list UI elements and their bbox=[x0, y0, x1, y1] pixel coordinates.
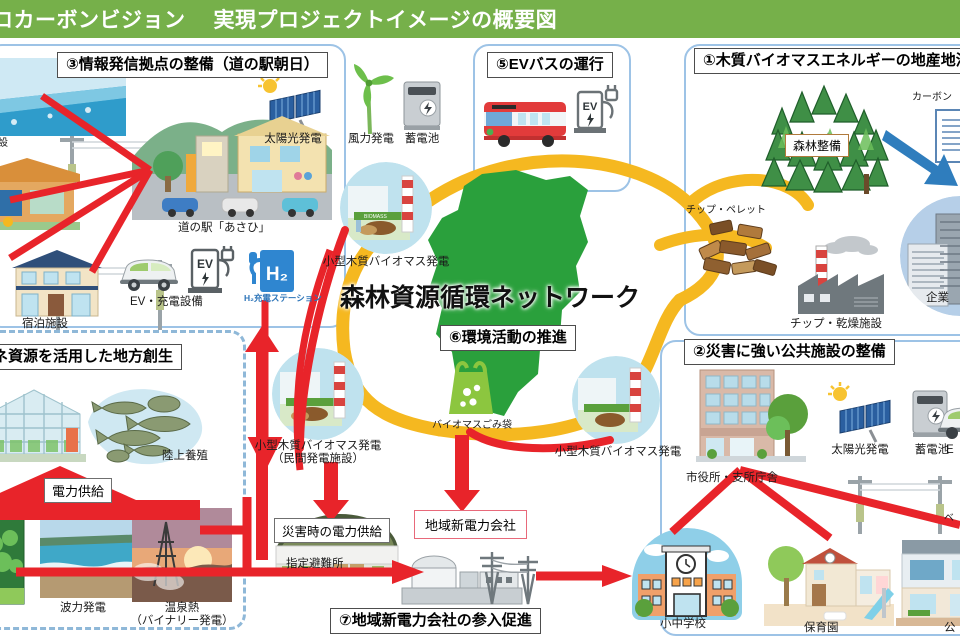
label-carbon-offset: カーボン bbox=[912, 92, 952, 104]
wood-chips-icon bbox=[694, 218, 786, 280]
label-chips-pellets: チップ・ペレット bbox=[686, 205, 766, 217]
forest-small-icon bbox=[0, 514, 24, 604]
lodging-building-icon bbox=[8, 248, 106, 320]
label-biomass-left-main: 小型木質バイオマス発電 bbox=[255, 440, 382, 452]
hydrogen-pump-icon: H₂ bbox=[246, 244, 306, 298]
label-biomass-left: 小型木質バイオマス発電 （民間発電施設） bbox=[246, 440, 390, 466]
city-building-icon bbox=[692, 366, 810, 470]
blue-arrow-icon bbox=[884, 120, 960, 200]
label-chip-drying: チップ・乾燥施設 bbox=[790, 318, 882, 331]
label-wind-top: 風力発電 bbox=[340, 133, 402, 146]
biomass-plant-circle-top: BIOMASS bbox=[340, 162, 432, 254]
svg-text:EV: EV bbox=[197, 257, 213, 271]
label-city-hall: 市役所・支所庁舎 bbox=[686, 472, 778, 485]
label-lodging: 宿泊施設 bbox=[22, 318, 68, 331]
hotspring-photo-icon bbox=[132, 508, 232, 602]
wind-turbine-icon bbox=[344, 64, 396, 136]
school-building-icon bbox=[632, 528, 742, 620]
label-hotspring-sub: （バイナリー発電） bbox=[130, 615, 233, 627]
solar-panel-icon-right bbox=[826, 382, 896, 444]
label-ev-right: E bbox=[946, 444, 954, 457]
transmission-tower-icon-3 bbox=[846, 470, 960, 540]
greenhouse-icon bbox=[0, 384, 86, 462]
label-land-aquaculture: 陸上養殖 bbox=[162, 450, 208, 463]
ev-bus-icon bbox=[482, 96, 572, 150]
ev-charger-icon: EV bbox=[186, 246, 242, 296]
page-header: ロカーボンビジョン 実現プロジェクトイメージの概要図 bbox=[0, 0, 960, 38]
section-title-4: ネ資源を活用した地方創生 bbox=[0, 344, 182, 370]
factory-icon bbox=[792, 230, 902, 322]
section-title-1: ①木質バイオマスエネルギーの地産地消 bbox=[694, 48, 960, 74]
label-public-facility: 公 bbox=[944, 622, 956, 635]
infographic-page: ロカーボンビジョン 実現プロジェクトイメージの概要図 bbox=[0, 0, 960, 640]
label-pole-cut: ベ bbox=[944, 513, 954, 525]
label-solar-top: 太陽光発電 bbox=[258, 133, 328, 146]
section-title-3: ③情報発信拠点の整備（道の駅朝日） bbox=[57, 52, 328, 78]
label-battery-top: 蓄電池 bbox=[396, 133, 448, 146]
label-hotspring-main: 温泉熱 bbox=[165, 602, 200, 614]
label-biomass-bag: バイオマスごみ袋 bbox=[408, 420, 536, 432]
label-roadside-station: 道の駅「あさひ」 bbox=[178, 222, 270, 235]
power-supply-box: 電力供給 bbox=[44, 478, 112, 503]
new-power-company-box: 地域新電力会社 bbox=[414, 510, 527, 539]
label-solar-right: 太陽光発電 bbox=[824, 444, 896, 457]
svg-text:BIOMASS: BIOMASS bbox=[364, 214, 387, 220]
biomass-plant-circle-left bbox=[272, 348, 364, 440]
label-biomass-top: 小型木質バイオマス発電 bbox=[316, 256, 456, 269]
ev-car-icon-right bbox=[936, 400, 960, 440]
section-title-5: ⑤EVバスの運行 bbox=[487, 52, 613, 78]
label-company: 企業 bbox=[926, 292, 949, 305]
label-h2-station: H₂充電ステーション bbox=[244, 294, 314, 304]
label-biomass-right: 小型木質バイオマス発電 bbox=[548, 446, 688, 459]
label-nursery: 保育園 bbox=[804, 622, 839, 635]
public-facility-icon bbox=[896, 534, 960, 626]
battery-icon bbox=[398, 76, 446, 134]
section-title-2: ②災害に強い公共施設の整備 bbox=[684, 339, 895, 365]
header-title-part1: ロカーボンビジョン bbox=[0, 4, 186, 34]
disaster-power-supply-box: 災害時の電力供給 bbox=[274, 518, 390, 543]
label-wave-power: 波力発電 bbox=[60, 602, 106, 615]
label-hotspring: 温泉熱 （バイナリー発電） bbox=[118, 602, 246, 628]
nursery-building-icon bbox=[764, 540, 894, 626]
onsen-building-icon bbox=[0, 152, 82, 230]
forest-maintenance-box: 森林整備 bbox=[785, 134, 849, 157]
ev-charger-icon-bus: EV bbox=[572, 84, 624, 142]
section-title-7: ⑦地域新電力会社の参入促進 bbox=[330, 608, 541, 634]
header-title-part2: 実現プロジェクトイメージの概要図 bbox=[214, 4, 558, 34]
label-ev-charge: EV・充電設備 bbox=[130, 296, 203, 309]
svg-text:EV: EV bbox=[583, 101, 598, 113]
label-school: 小中学校 bbox=[660, 618, 706, 631]
biomass-plant-circle-right bbox=[572, 356, 660, 444]
svg-text:H₂: H₂ bbox=[266, 264, 288, 285]
ev-car-icon bbox=[118, 252, 180, 292]
roadside-station-icon bbox=[132, 110, 332, 220]
label-pool-facility: 施設 bbox=[0, 138, 8, 150]
biomass-bag-icon bbox=[443, 358, 499, 420]
label-biomass-left-sub: （民間発電施設） bbox=[272, 453, 364, 465]
section-title-6: ⑥環境活動の推進 bbox=[440, 325, 576, 351]
label-shelter: 指定避難所 bbox=[286, 558, 344, 571]
center-network-title: 森林資源循環ネットワーク bbox=[340, 278, 640, 314]
